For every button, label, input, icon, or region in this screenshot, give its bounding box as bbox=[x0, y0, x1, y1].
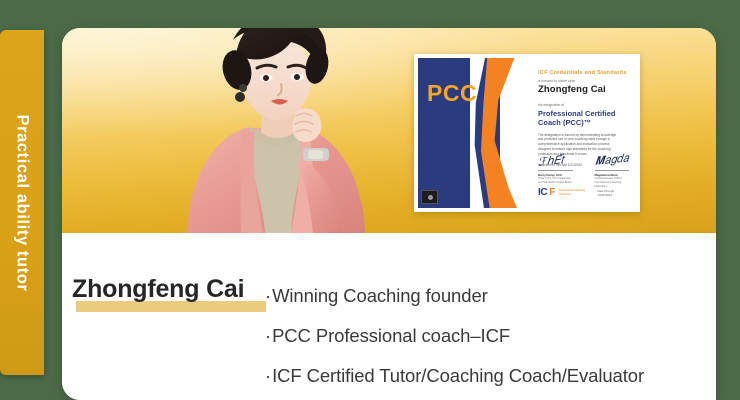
icf-logo-primary: IC bbox=[538, 187, 547, 198]
signature-right-mark: 𝑴𝑎𝑔𝑑𝑎 bbox=[594, 152, 630, 171]
list-item: · ICF Certified Tutor/Coaching Coach/Eva… bbox=[265, 365, 715, 387]
side-tab-label: Practical ability tutor bbox=[13, 114, 32, 291]
credential-text: Winning Coaching founder bbox=[272, 285, 488, 307]
credentials-list: · Winning Coaching founder · PCC Profess… bbox=[265, 285, 715, 387]
certificate-kicker: ICF Credentials and Standards bbox=[538, 70, 629, 76]
side-tab-practical-ability-tutor[interactable]: Practical ability tutor bbox=[0, 30, 44, 375]
icf-logo-subtitle: International Coaching Federation bbox=[559, 189, 597, 196]
signature-left-mark: ℱℎ𝐸𝑡̅ bbox=[537, 152, 573, 171]
tutor-name: Zhongfeng Cai bbox=[70, 275, 246, 306]
tutor-profile-screen: Practical ability tutor bbox=[0, 0, 740, 400]
bullet-icon: · bbox=[265, 327, 271, 346]
credential-text: ICF Certified Tutor/Coaching Coach/Evalu… bbox=[272, 365, 644, 387]
signature-right: 𝑴𝑎𝑔𝑑𝑎 Magdalena Mook Chief Executive Off… bbox=[595, 154, 630, 189]
certificate-signatures: ℱℎ𝐸𝑡̅ Barry Demp, ACC Chair ICF’s ICF Cr… bbox=[538, 154, 629, 189]
signature-left-title: Chair ICF’s ICF Credentials and Standard… bbox=[538, 177, 573, 185]
certificate-corner-badge-icon bbox=[421, 190, 438, 204]
certificate-title: Professional Certified Coach (PCC)™ bbox=[538, 109, 629, 127]
certificate-subline: is honored to confer upon bbox=[538, 79, 629, 83]
certificate-valid-date: Date through 10/31/2024 bbox=[597, 189, 629, 197]
card-content: Zhongfeng Cai · Winning Coaching founder… bbox=[62, 233, 716, 400]
list-item: · PCC Professional coach–ICF bbox=[265, 325, 715, 347]
credential-text: PCC Professional coach–ICF bbox=[272, 325, 510, 347]
certificate-footer: ICF International Coaching Federation Da… bbox=[538, 187, 629, 198]
bullet-icon: · bbox=[265, 367, 271, 386]
certificate-designation-label: the designation of bbox=[538, 103, 629, 107]
signature-left: ℱℎ𝐸𝑡̅ Barry Demp, ACC Chair ICF’s ICF Cr… bbox=[538, 154, 573, 189]
certificate-pcc-mark: PCC bbox=[427, 80, 477, 107]
tutor-name-block: Zhongfeng Cai bbox=[70, 275, 246, 306]
certificate-image: PCC ICF Credentials and Standards is hon… bbox=[414, 54, 640, 212]
tutor-card: PCC ICF Credentials and Standards is hon… bbox=[62, 28, 716, 400]
icf-logo-accent: F bbox=[549, 187, 555, 198]
certificate-recipient-name: Zhongfeng Cai bbox=[538, 84, 629, 95]
list-item: · Winning Coaching founder bbox=[265, 285, 715, 307]
tutor-photo bbox=[167, 28, 382, 233]
icf-logo-icon: ICF International Coaching Federation bbox=[538, 187, 597, 198]
